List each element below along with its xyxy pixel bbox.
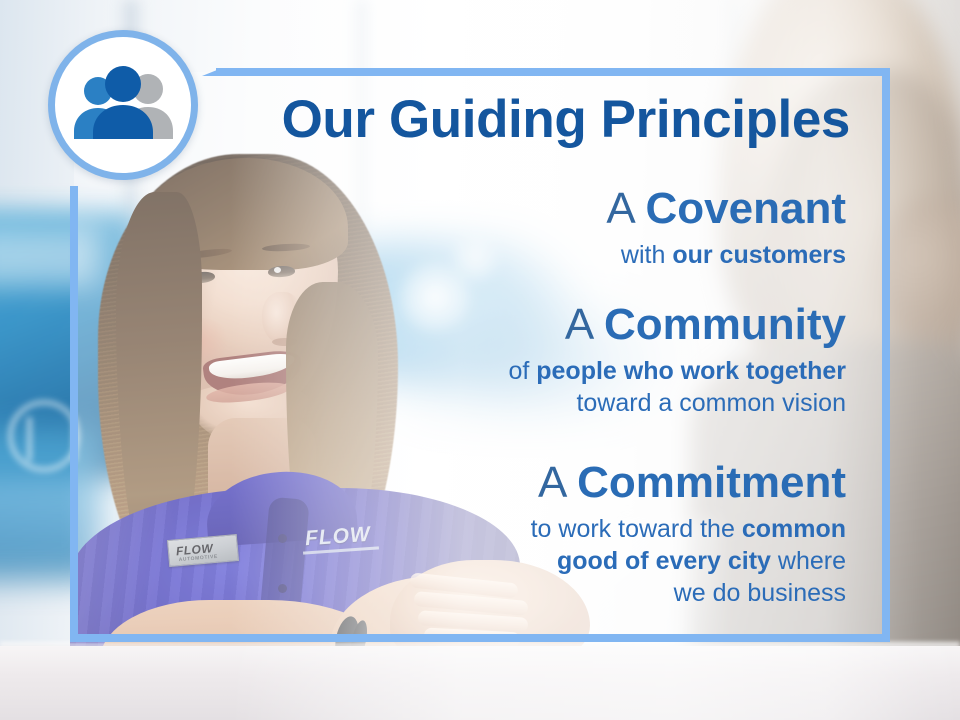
principle-keyword: Community: [604, 300, 846, 349]
principle-covenant: A Covenant with our customers: [0, 186, 892, 271]
principle-community: A Community of people who work together …: [0, 302, 892, 419]
principle-article: A: [538, 458, 565, 507]
subtext-part-bold: people who work together: [536, 357, 846, 385]
principle-subtext: of people who work together toward a com…: [0, 355, 846, 419]
principle-heading: A Covenant: [0, 186, 846, 232]
principle-keyword: Commitment: [577, 458, 846, 507]
promo-graphic: FLOW AUTOMOTIVE FLOW: [0, 0, 960, 720]
principle-subtext: to work toward the common good of every …: [0, 513, 846, 609]
subtext-part: we do business: [674, 579, 846, 607]
principle-article: A: [606, 184, 633, 233]
subtext-line: with our customers: [0, 239, 846, 271]
text-content: Our Guiding Principles A Covenant with o…: [0, 0, 960, 720]
subtext-line: to work toward the common: [0, 513, 846, 545]
subtext-part: with: [621, 241, 672, 269]
subtext-part-bold: our customers: [672, 241, 846, 269]
subtext-part: toward a common vision: [576, 389, 846, 417]
principle-keyword: Covenant: [646, 184, 846, 233]
principle-article: A: [565, 300, 592, 349]
subtext-part: to work toward the: [531, 515, 742, 543]
subtext-line: of people who work together: [0, 355, 846, 387]
principle-subtext: with our customers: [0, 239, 846, 271]
subtext-part: where: [771, 547, 846, 575]
principle-commitment: A Commitment to work toward the common g…: [0, 460, 892, 609]
subtext-part: of: [508, 357, 536, 385]
principle-heading: A Community: [0, 302, 846, 348]
subtext-part-bold: good of every city: [557, 547, 771, 575]
subtext-line: we do business: [0, 577, 846, 609]
page-title: Our Guiding Principles: [0, 93, 892, 146]
subtext-line: toward a common vision: [0, 387, 846, 419]
subtext-line: good of every city where: [0, 545, 846, 577]
subtext-part-bold: common: [742, 515, 846, 543]
principle-heading: A Commitment: [0, 460, 846, 506]
